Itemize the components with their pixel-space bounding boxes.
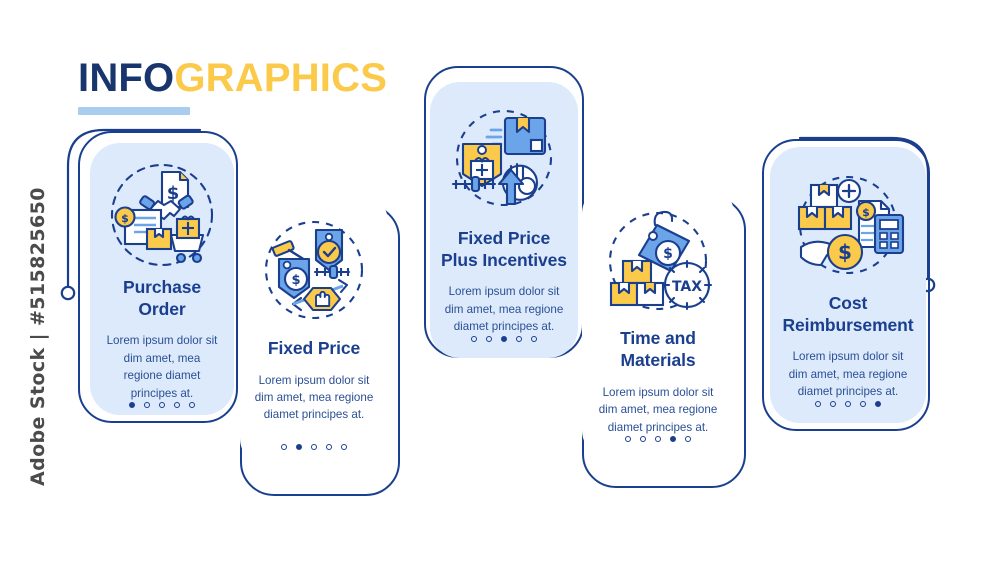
card-title: Fixed Price xyxy=(260,338,368,360)
card-description: Lorem ipsum dolor sit dim amet, mea regi… xyxy=(582,384,734,436)
progress-dot[interactable] xyxy=(625,436,631,442)
progress-dot[interactable] xyxy=(655,436,661,442)
progress-dot[interactable] xyxy=(845,401,851,407)
card-title-line1: Time and xyxy=(620,328,696,348)
card-title-line1: Purchase xyxy=(123,277,201,297)
card-title: Cost Reimbursement xyxy=(775,293,922,336)
tax-clock-label: TAX xyxy=(672,279,702,295)
progress-dot[interactable] xyxy=(531,336,537,342)
progress-dots[interactable] xyxy=(129,402,195,408)
progress-dot[interactable] xyxy=(685,436,691,442)
progress-dot[interactable] xyxy=(326,444,332,450)
progress-dot[interactable] xyxy=(516,336,522,342)
progress-dot[interactable] xyxy=(815,401,821,407)
card-title-line2: Reimbursement xyxy=(783,315,914,335)
progress-dot[interactable] xyxy=(129,402,135,408)
progress-dots[interactable] xyxy=(625,436,691,442)
card-cost-reimbursement[interactable]: $ $ xyxy=(770,147,926,423)
progress-dot[interactable] xyxy=(159,402,165,408)
progress-dot[interactable] xyxy=(311,444,317,450)
progress-dot[interactable] xyxy=(875,401,881,407)
fixed-price-icon: $ xyxy=(252,208,376,332)
card-title: Fixed Price Plus Incentives xyxy=(433,228,575,271)
fixed-price-incentives-icon xyxy=(442,98,566,222)
time-materials-icon: $ xyxy=(596,200,720,322)
card-title-line2: Plus Incentives xyxy=(441,250,567,270)
svg-text:$: $ xyxy=(862,206,870,219)
progress-dot[interactable] xyxy=(281,444,287,450)
svg-text:$: $ xyxy=(838,240,852,264)
progress-dot[interactable] xyxy=(486,336,492,342)
cost-reimbursement-icon: $ $ xyxy=(786,163,910,287)
svg-text:$: $ xyxy=(121,212,129,225)
card-title-line2: Materials xyxy=(621,350,696,370)
card-time-and-materials[interactable]: $ xyxy=(582,184,734,460)
progress-dots[interactable] xyxy=(815,401,881,407)
purchase-order-icon: $ $ xyxy=(100,159,224,271)
card-title-line2: Order xyxy=(138,299,185,319)
infographic-canvas: INFOGRAPHICS $ xyxy=(0,0,1000,562)
progress-dot[interactable] xyxy=(501,336,507,342)
card-title: Purchase Order xyxy=(115,277,209,320)
svg-text:$: $ xyxy=(663,246,673,262)
progress-dots[interactable] xyxy=(471,336,537,342)
card-purchase-order[interactable]: $ $ xyxy=(90,143,234,415)
progress-dot[interactable] xyxy=(860,401,866,407)
progress-dot[interactable] xyxy=(296,444,302,450)
progress-dots[interactable] xyxy=(281,444,347,450)
card-description: Lorem ipsum dolor sit dim amet, mea regi… xyxy=(90,332,234,402)
progress-dot[interactable] xyxy=(670,436,676,442)
card-title-line1: Fixed Price xyxy=(458,228,550,248)
card-title-line1: Fixed Price xyxy=(268,338,360,358)
progress-dot[interactable] xyxy=(189,402,195,408)
card-description: Lorem ipsum dolor sit dim amet, mea regi… xyxy=(430,283,578,335)
card-title-line1: Cost xyxy=(829,293,868,313)
progress-dot[interactable] xyxy=(471,336,477,342)
progress-dot[interactable] xyxy=(341,444,347,450)
card-title: Time and Materials xyxy=(612,328,704,371)
card-fixed-price[interactable]: $ xyxy=(240,192,388,468)
progress-dot[interactable] xyxy=(830,401,836,407)
card-description: Lorem ipsum dolor sit dim amet, mea regi… xyxy=(770,348,926,400)
card-description: Lorem ipsum dolor sit dim amet, mea regi… xyxy=(240,372,388,424)
progress-dot[interactable] xyxy=(174,402,180,408)
progress-dot[interactable] xyxy=(640,436,646,442)
svg-text:$: $ xyxy=(291,273,300,288)
progress-dot[interactable] xyxy=(144,402,150,408)
svg-text:$: $ xyxy=(167,183,180,204)
stock-watermark: Adobe Stock | #515825650 xyxy=(27,226,49,486)
card-fixed-price-plus-incentives[interactable]: Fixed Price Plus Incentives Lorem ipsum … xyxy=(430,82,578,358)
